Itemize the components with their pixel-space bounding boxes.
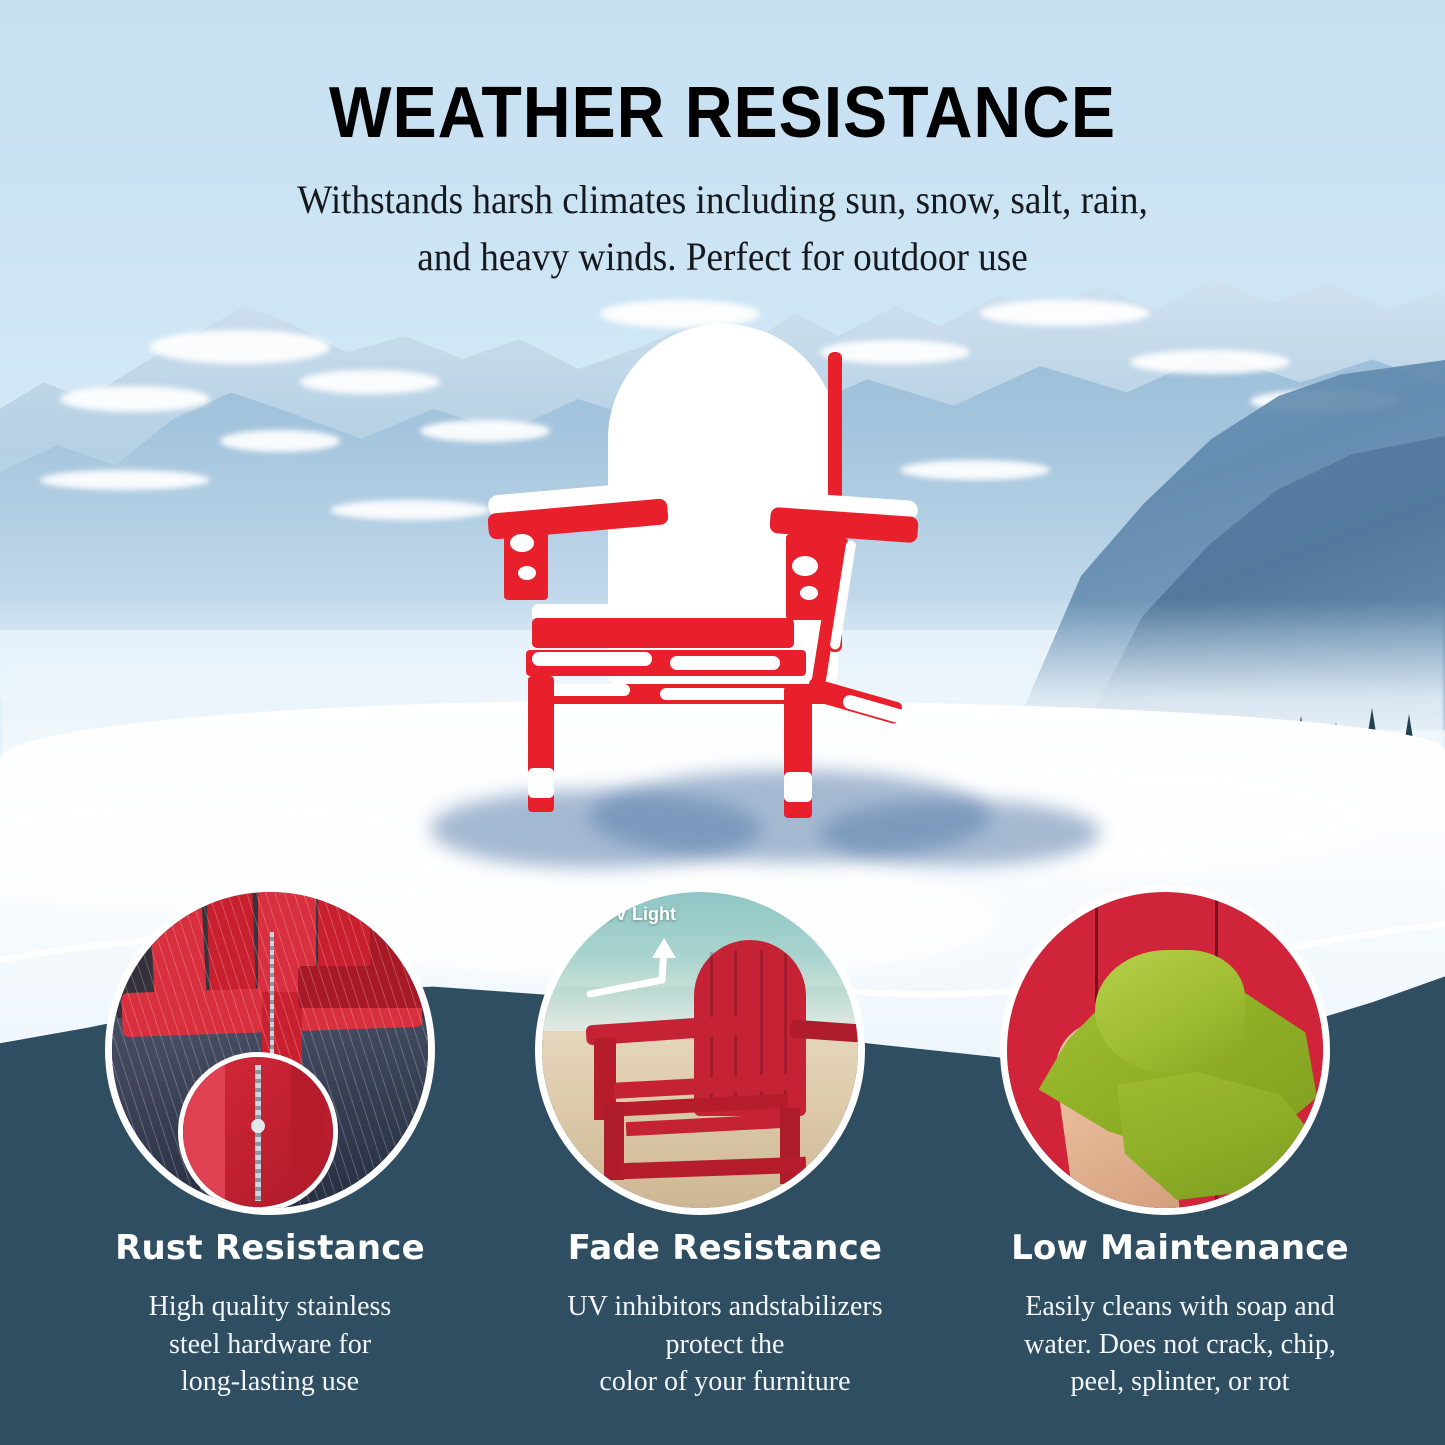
snow-cap [300,370,440,394]
chair-lower-rail-snow [660,688,790,700]
chair-rail-snow [670,656,780,670]
feature-desc-line: protect the [505,1326,945,1364]
snow-cap [980,300,1150,326]
snow-speckle [518,566,536,580]
stainless-chain-closeup [255,1065,261,1201]
feature-title-low-maintenance: Low Maintenance [960,1228,1400,1268]
feature-desc-line: UV inhibitors andstabilizers [505,1288,945,1326]
feature-desc-line: color of your furniture [505,1363,945,1401]
snow-cap [220,430,340,452]
feature-desc-line: long-lasting use [50,1363,490,1401]
feature-desc-line: steel hardware for [50,1326,490,1364]
feature-title-fade-resistance: Fade Resistance [505,1228,945,1268]
feature-desc-low-maintenance: Easily cleans with soap and water. Does … [960,1288,1400,1401]
feature-desc-line: Easily cleans with soap and [960,1288,1400,1326]
subtitle-line-1: Withstands harsh climates including sun,… [51,172,1395,229]
snow-cap [60,386,210,412]
chair-arm-support-left [504,520,548,600]
chair-rail-snow [532,652,652,666]
feature-desc-fade-resistance: UV inhibitors andstabilizers protect the… [505,1288,945,1401]
subtitle-line-2: and heavy winds. Perfect for outdoor use [51,229,1395,286]
feature-image-fade-resistance: UV Light [535,885,865,1215]
snow-cap [330,500,490,520]
page-title: WEATHER RESISTANCE [58,72,1387,154]
snow-speckle [792,556,818,576]
feature-desc-line: High quality stainless [50,1288,490,1326]
hero-chair-image [470,320,940,840]
snow-speckle [800,586,818,600]
uv-light-label: UV Light [602,904,676,925]
snow-cap [150,330,330,364]
feature-desc-rust-resistance: High quality stainless steel hardware fo… [50,1288,490,1401]
feature-desc-line: peel, splinter, or rot [960,1363,1400,1401]
hardware-zoom-inset [178,1052,338,1212]
snow-cap [1130,350,1290,374]
page-subtitle: Withstands harsh climates including sun,… [51,172,1395,286]
feature-desc-line: water. Does not crack, chip, [960,1326,1400,1364]
weather-resistance-infographic: WEATHER RESISTANCE Withstands harsh clim… [0,0,1445,1445]
chair-leg-snow [784,772,812,802]
snow-cap [40,470,210,490]
feature-image-rust-resistance [105,885,435,1215]
microfiber-cloth-fold [1095,950,1245,1074]
stainless-chain [270,932,274,1072]
feature-image-low-maintenance [1000,885,1330,1215]
chair-leg-snow [528,768,554,798]
chair-seat [532,618,794,648]
feature-title-rust-resistance: Rust Resistance [50,1228,490,1268]
snow-speckle [510,534,534,552]
